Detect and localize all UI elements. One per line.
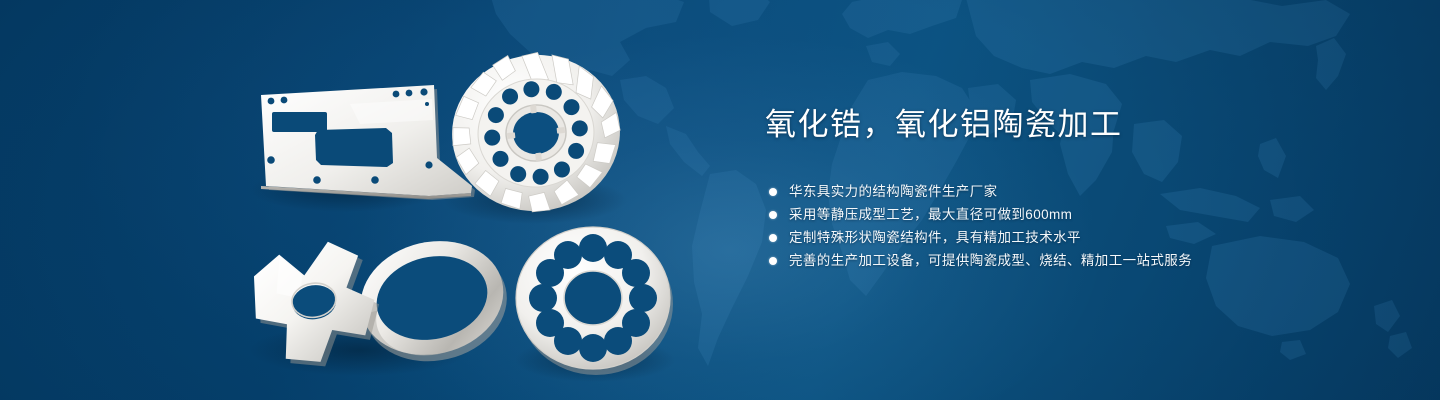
feature-text: 完善的生产加工设备，可提供陶瓷成型、烧结、精加工一站式服务 [789,249,1192,272]
product-images [0,0,720,400]
promo-banner: 氧化锆，氧化铝陶瓷加工 华东具实力的结构陶瓷件生产厂家 采用等静压成型工艺，最大… [0,0,1440,400]
page-title: 氧化锆，氧化铝陶瓷加工 [765,104,1385,146]
feature-text: 定制特殊形状陶瓷结构件，具有精加工技术水平 [789,226,1081,249]
feature-list: 华东具实力的结构陶瓷件生产厂家 采用等静压成型工艺，最大直径可做到600mm 定… [765,180,1385,272]
bullet-dot-icon [769,234,777,242]
list-item: 定制特殊形状陶瓷结构件，具有精加工技术水平 [765,226,1385,249]
bullet-dot-icon [769,188,777,196]
bullet-dot-icon [769,257,777,265]
feature-text: 采用等静压成型工艺，最大直径可做到600mm [789,203,1072,226]
list-item: 采用等静压成型工艺，最大直径可做到600mm [765,203,1385,226]
list-item: 完善的生产加工设备，可提供陶瓷成型、烧结、精加工一站式服务 [765,249,1385,272]
list-item: 华东具实力的结构陶瓷件生产厂家 [765,180,1385,203]
bullet-dot-icon [769,211,777,219]
feature-text: 华东具实力的结构陶瓷件生产厂家 [789,180,998,203]
copy-block: 氧化锆，氧化铝陶瓷加工 华东具实力的结构陶瓷件生产厂家 采用等静压成型工艺，最大… [765,104,1385,272]
ceramic-flat-plate-graphic [261,85,475,200]
